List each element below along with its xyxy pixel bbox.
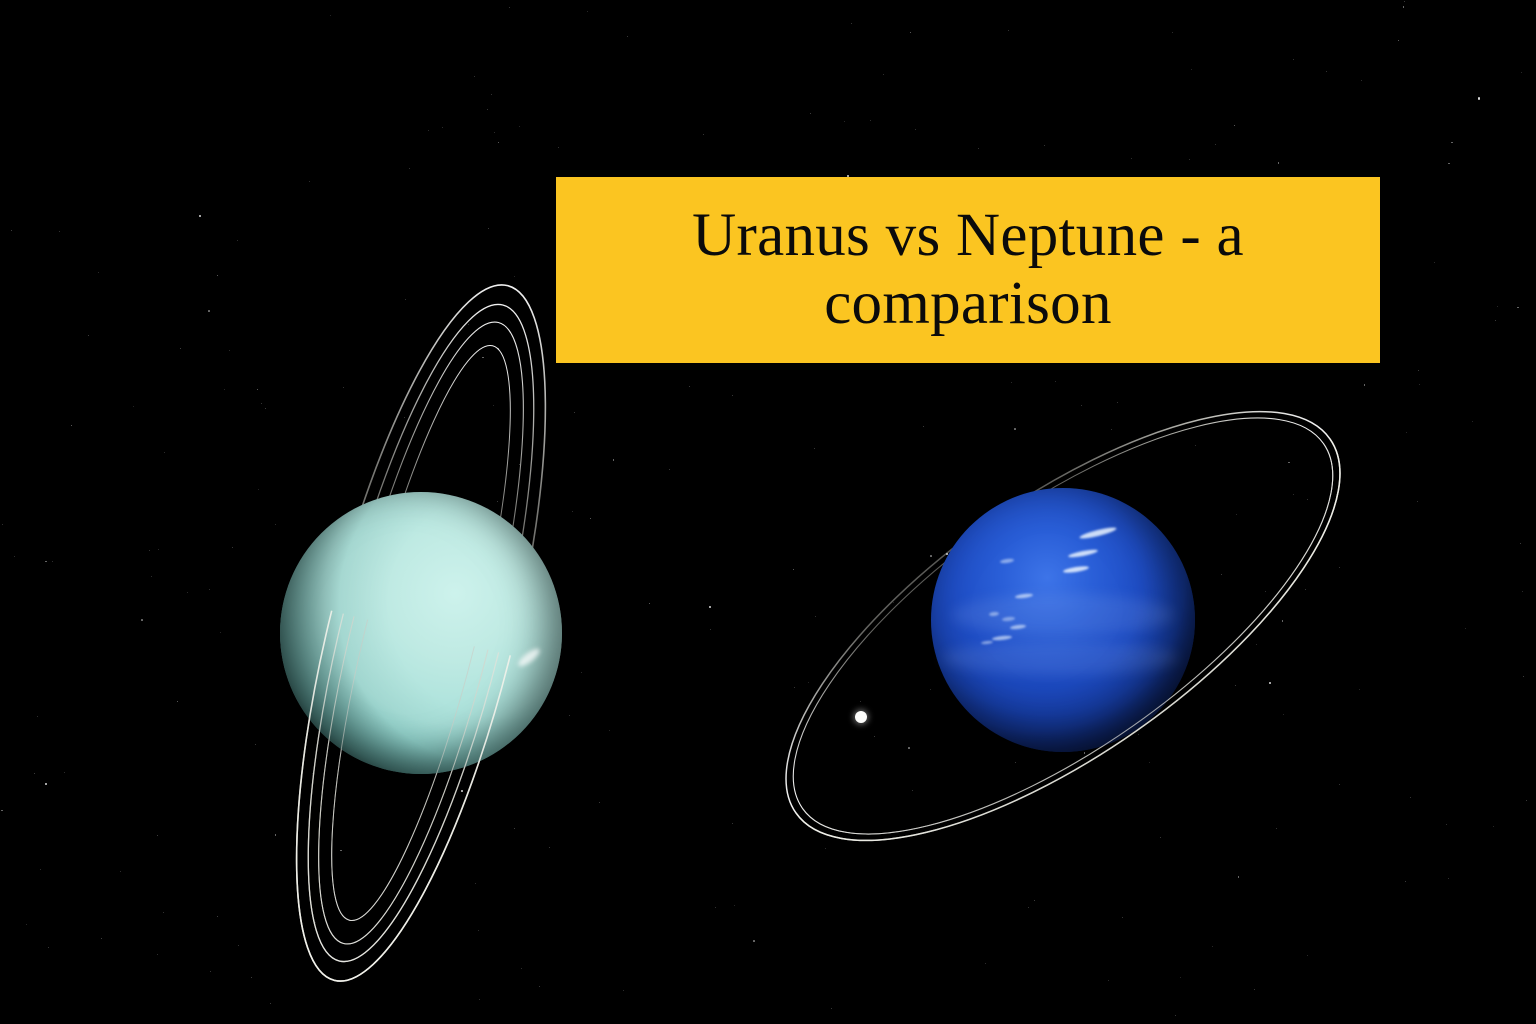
star (187, 592, 188, 593)
star (709, 606, 711, 608)
star (45, 783, 47, 785)
star (133, 406, 134, 407)
star (1517, 307, 1519, 309)
star (1160, 837, 1161, 838)
star (442, 127, 443, 128)
star (1526, 800, 1527, 801)
star (1189, 159, 1190, 160)
star (910, 32, 912, 34)
star (2, 524, 3, 525)
star (985, 963, 986, 964)
star (164, 452, 165, 453)
star (224, 389, 225, 390)
star (199, 215, 201, 217)
star (210, 971, 211, 972)
star (1055, 381, 1056, 382)
star (270, 1003, 271, 1004)
star (141, 619, 143, 621)
star (883, 74, 884, 75)
star (1521, 72, 1522, 73)
star (1478, 97, 1480, 99)
star (14, 556, 15, 557)
star (1028, 907, 1029, 908)
star (330, 15, 331, 16)
star (509, 7, 510, 8)
star (157, 954, 158, 955)
star (915, 129, 916, 130)
star (71, 425, 73, 427)
star (1215, 144, 1216, 145)
star (1419, 384, 1420, 385)
star (703, 134, 704, 135)
star (1339, 784, 1340, 785)
star (1131, 158, 1132, 159)
star (101, 938, 102, 939)
star (1410, 797, 1411, 798)
star (1172, 32, 1173, 33)
star (1191, 69, 1192, 70)
star (158, 549, 159, 550)
star (428, 130, 429, 131)
star (978, 148, 979, 149)
star (98, 272, 99, 273)
star (48, 947, 49, 948)
star (1238, 876, 1240, 878)
star (120, 871, 121, 872)
star (1417, 501, 1418, 502)
star (732, 395, 733, 396)
star (1014, 428, 1016, 430)
star (1418, 370, 1419, 371)
star (1406, 432, 1407, 433)
star (11, 230, 12, 231)
uranus-sphere (280, 492, 562, 774)
star (814, 448, 815, 449)
star (851, 23, 852, 24)
star (514, 276, 515, 277)
star (208, 310, 210, 312)
star (1235, 685, 1236, 686)
star (237, 240, 238, 241)
star (844, 121, 845, 122)
star (1, 810, 3, 812)
star (1451, 142, 1453, 144)
star (1448, 878, 1449, 879)
star (180, 348, 181, 349)
star (52, 561, 53, 562)
star (40, 869, 41, 870)
star (1497, 306, 1498, 307)
star (1254, 989, 1255, 990)
star (1122, 917, 1123, 918)
star (1081, 405, 1082, 406)
star (1472, 421, 1473, 422)
star (409, 168, 410, 169)
star (1446, 824, 1447, 825)
star (710, 629, 711, 630)
star (217, 275, 219, 277)
star (1293, 59, 1294, 60)
neptune-moon (855, 711, 867, 723)
title-banner: Uranus vs Neptune - a comparison (556, 177, 1380, 363)
star (1180, 977, 1181, 978)
star (474, 76, 475, 77)
star (1398, 40, 1400, 42)
star (1117, 402, 1118, 403)
star (1269, 682, 1271, 684)
star (1034, 900, 1035, 901)
star (831, 1008, 832, 1009)
star (1307, 955, 1308, 956)
space-scene: Uranus vs Neptune - a comparison (0, 0, 1536, 1024)
star (1011, 382, 1012, 383)
star (149, 550, 150, 551)
star (1108, 980, 1109, 981)
neptune-sphere (931, 488, 1195, 752)
star (488, 228, 489, 229)
star (229, 350, 230, 351)
star (88, 335, 89, 336)
star (627, 36, 628, 37)
star (1520, 543, 1521, 544)
star (34, 773, 35, 774)
star (1364, 384, 1366, 386)
star (1361, 80, 1362, 81)
star (151, 576, 152, 577)
star (558, 147, 559, 148)
star (26, 924, 27, 925)
star (810, 113, 811, 114)
star (1008, 30, 1009, 31)
star (1278, 162, 1280, 164)
star (1403, 6, 1405, 8)
star (1404, 1, 1405, 2)
star (1493, 826, 1494, 827)
star (587, 11, 588, 12)
star (1212, 946, 1213, 947)
star (1283, 714, 1284, 715)
star (1523, 676, 1524, 677)
star (64, 772, 65, 773)
star (753, 940, 755, 942)
star (734, 905, 735, 906)
star (815, 616, 816, 617)
star (1234, 125, 1236, 127)
star (1495, 320, 1496, 321)
star (498, 142, 500, 144)
star (1405, 881, 1406, 882)
star (1522, 591, 1523, 592)
star (923, 426, 924, 427)
page-title: Uranus vs Neptune - a comparison (618, 202, 1318, 339)
star (1149, 762, 1150, 763)
star (1465, 628, 1466, 629)
star (1434, 262, 1435, 263)
star (1448, 163, 1450, 165)
star (870, 120, 871, 121)
star (1359, 689, 1360, 690)
star (1175, 1015, 1176, 1016)
star (59, 231, 60, 232)
star (715, 907, 716, 908)
star (487, 109, 488, 110)
star (793, 569, 795, 571)
star (37, 716, 38, 717)
star (1276, 828, 1277, 829)
star (1044, 145, 1045, 146)
star (1326, 71, 1327, 72)
star (309, 181, 310, 182)
star (251, 977, 252, 978)
star (732, 823, 733, 824)
star (494, 132, 495, 133)
star (491, 94, 492, 95)
star (519, 126, 520, 127)
star (623, 990, 624, 991)
star (45, 561, 47, 563)
